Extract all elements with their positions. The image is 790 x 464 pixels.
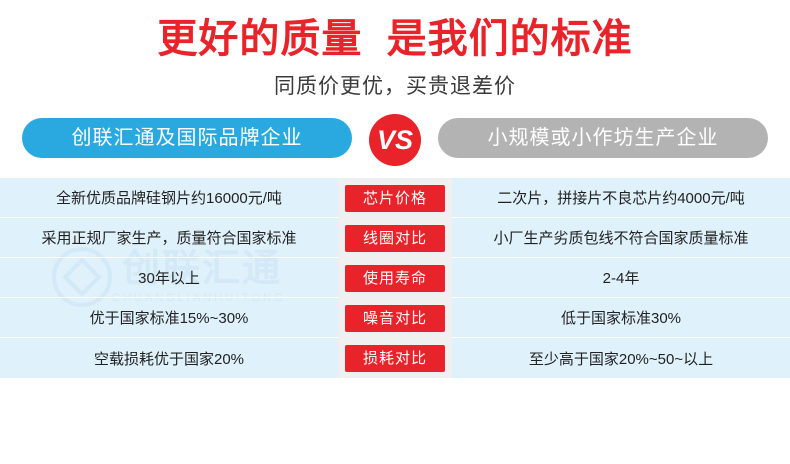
row-left-value: 30年以上 xyxy=(0,258,338,298)
row-left-value: 空载损耗优于国家20% xyxy=(0,338,338,378)
row-tag-cell: 线圈对比 xyxy=(338,218,452,258)
row-tag: 损耗对比 xyxy=(345,345,445,372)
promo-page: 更好的质量 是我们的标准 同质价更优，买贵退差价 创联汇通及国际品牌企业 VS … xyxy=(0,0,790,464)
row-tag-cell: 使用寿命 xyxy=(338,258,452,298)
row-left-value: 采用正规厂家生产，质量符合国家标准 xyxy=(0,218,338,258)
table-rows: 全新优质品牌硅钢片约16000元/吨 芯片价格 二次片，拼接片不良芯片约4000… xyxy=(0,178,790,378)
row-tag: 噪音对比 xyxy=(345,305,445,332)
page-title: 更好的质量 是我们的标准 xyxy=(0,0,790,62)
row-right-value: 小厂生产劣质包线不符合国家质量标准 xyxy=(452,218,790,258)
row-tag-cell: 损耗对比 xyxy=(338,338,452,378)
left-party-label: 创联汇通及国际品牌企业 xyxy=(22,118,352,158)
table-row: 30年以上 使用寿命 2-4年 xyxy=(0,258,790,298)
row-tag: 线圈对比 xyxy=(345,225,445,252)
right-party-label: 小规模或小作坊生产企业 xyxy=(438,118,768,158)
page-subtitle: 同质价更优，买贵退差价 xyxy=(0,70,790,100)
row-right-value: 至少高于国家20%~50~以上 xyxy=(452,338,790,378)
row-tag: 芯片价格 xyxy=(345,185,445,212)
row-tag: 使用寿命 xyxy=(345,265,445,292)
row-tag-cell: 噪音对比 xyxy=(338,298,452,338)
row-right-value: 低于国家标准30% xyxy=(452,298,790,338)
comparison-table: 创联汇通 CHUANGLIANHUITONG 全新优质品牌硅钢片约16000元/… xyxy=(0,178,790,378)
table-row: 空载损耗优于国家20% 损耗对比 至少高于国家20%~50~以上 xyxy=(0,338,790,378)
comparison-header: 创联汇通及国际品牌企业 VS 小规模或小作坊生产企业 xyxy=(0,114,790,166)
table-row: 全新优质品牌硅钢片约16000元/吨 芯片价格 二次片，拼接片不良芯片约4000… xyxy=(0,178,790,218)
row-left-value: 全新优质品牌硅钢片约16000元/吨 xyxy=(0,178,338,218)
row-left-value: 优于国家标准15%~30% xyxy=(0,298,338,338)
row-right-value: 2-4年 xyxy=(452,258,790,298)
row-tag-cell: 芯片价格 xyxy=(338,178,452,218)
table-row: 采用正规厂家生产，质量符合国家标准 线圈对比 小厂生产劣质包线不符合国家质量标准 xyxy=(0,218,790,258)
vs-badge: VS xyxy=(369,114,421,166)
row-right-value: 二次片，拼接片不良芯片约4000元/吨 xyxy=(452,178,790,218)
table-row: 优于国家标准15%~30% 噪音对比 低于国家标准30% xyxy=(0,298,790,338)
